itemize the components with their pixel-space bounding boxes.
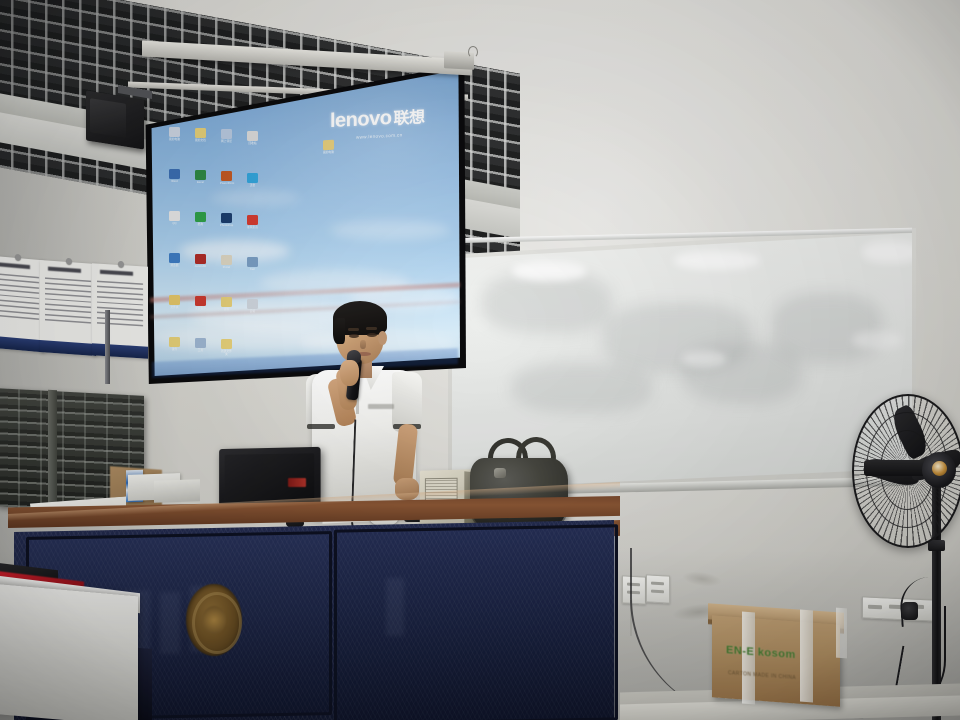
pin-icon [15, 254, 21, 261]
classroom-photo: 我的电脑我的文档网上邻居回收站WordExcelPowerPoint迅雷QQ酷狗… [0, 0, 960, 720]
presenter-shirt-logo [368, 404, 394, 409]
carton-tape-strip [836, 608, 847, 659]
shelving-post [48, 390, 57, 512]
notice-poster-2 [40, 260, 96, 356]
notice-poster-3 [92, 263, 148, 358]
desk-panel-right [334, 524, 618, 720]
whiteboard-ghost-mark [772, 293, 882, 363]
desk-emblem-core [202, 606, 226, 634]
fan-height-collar[interactable] [928, 540, 945, 551]
pin-icon [66, 258, 72, 264]
whiteboard-glare [862, 241, 920, 263]
whiteboard-glare [674, 251, 760, 270]
monitor-brand-logo [288, 478, 306, 487]
presenter-eyebrow-left [348, 328, 359, 331]
whiteboard-glare [512, 261, 586, 281]
presenter-hand-left [340, 360, 359, 386]
whiteboard-glare [682, 351, 726, 367]
presenter-cuff-left [307, 424, 335, 429]
handbag-clasp-icon [494, 468, 506, 478]
presenter-nose [360, 340, 366, 349]
white-carton-2 [154, 479, 200, 503]
notice-poster-1 [0, 256, 44, 353]
presenter-eye-right [367, 333, 377, 337]
whiteboard-ghost-mark [482, 273, 612, 333]
poster-hanging-rod [105, 310, 110, 384]
presenter-eye-left [349, 334, 359, 338]
foreground-equipment-cabinet [0, 584, 138, 720]
pin-icon [118, 261, 124, 267]
presenter-ear [378, 331, 387, 345]
screen-hook-icon [468, 46, 478, 58]
whiteboard-glare [852, 331, 902, 349]
fan-hub-cap-icon [932, 461, 947, 476]
presenter-hair-side [333, 318, 345, 344]
presenter-eyebrow-right [366, 327, 377, 330]
speaker-grille-icon [90, 98, 126, 138]
whiteboard-ghost-mark [512, 363, 652, 413]
